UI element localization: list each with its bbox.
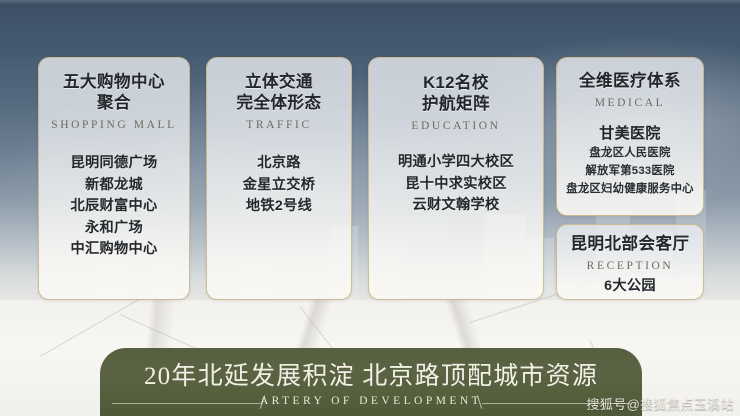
card-title-en: RECEPTION	[563, 260, 697, 272]
card-body: 立体交通 完全体形态 TRAFFIC 北京路 金星立交桥 地铁2号线	[207, 58, 351, 218]
card-title-cn: 全维医疗体系	[563, 71, 697, 92]
card-item-list: 北京路 金星立交桥 地铁2号线	[213, 153, 345, 218]
source-watermark: 搜狐号@搜狐焦点玉溪站	[586, 394, 734, 413]
bottom-banner: 20年北延发展积淀 北京路顶配城市资源 ARTERY OF DEVELOPMEN…	[100, 348, 642, 416]
card-traffic[interactable]: 立体交通 完全体形态 TRAFFIC 北京路 金星立交桥 地铁2号线	[206, 57, 352, 300]
spacer	[375, 132, 537, 152]
card-body: 五大购物中心 聚合 SHOPPING MALL 昆明同德广场 新都龙城 北辰财富…	[39, 58, 189, 261]
card-body: 昆明北部会客厅 RECEPTION 6大公园	[557, 225, 703, 298]
banner-subtitle-en: ARTERY OF DEVELOPMENT	[100, 394, 642, 407]
card-title-en: MEDICAL	[563, 97, 697, 109]
card-item-list: 6大公园	[563, 276, 697, 298]
card-item-list: 明通小学四大校区 昆十中求实校区 云财文翰学校	[375, 152, 537, 217]
card-shopping-mall[interactable]: 五大购物中心 聚合 SHOPPING MALL 昆明同德广场 新都龙城 北辰财富…	[38, 57, 190, 300]
card-item-list: 盘龙区人民医院 解放军第533医院 盘龙区妇幼健康服务中心	[563, 144, 697, 198]
slide-canvas: 五大购物中心 聚合 SHOPPING MALL 昆明同德广场 新都龙城 北辰财富…	[0, 0, 740, 416]
card-reception[interactable]: 昆明北部会客厅 RECEPTION 6大公园	[556, 224, 704, 300]
card-title-cn: 昆明北部会客厅	[563, 234, 697, 255]
banner-headline: 20年北延发展积淀 北京路顶配城市资源	[100, 356, 642, 392]
card-title-cn: 五大购物中心 聚合	[45, 72, 183, 114]
spacer	[45, 131, 183, 153]
banner-subtitle-group: ARTERY OF DEVELOPMENT	[100, 394, 642, 414]
card-title-cn: K12名校 护航矩阵	[375, 73, 537, 115]
spacer	[213, 131, 345, 153]
card-title-en: TRAFFIC	[213, 119, 345, 131]
card-education[interactable]: K12名校 护航矩阵 EDUCATION 明通小学四大校区 昆十中求实校区 云财…	[368, 57, 544, 300]
card-item-list: 昆明同德广场 新都龙城 北辰财富中心 永和广场 中汇购物中心	[45, 153, 183, 261]
top-edge-strip	[0, 0, 740, 5]
card-highlight-item: 甘美医院	[563, 123, 697, 144]
card-title-en: SHOPPING MALL	[45, 119, 183, 131]
card-title-cn: 立体交通 完全体形态	[213, 72, 345, 114]
card-body: K12名校 护航矩阵 EDUCATION 明通小学四大校区 昆十中求实校区 云财…	[369, 58, 543, 217]
card-medical[interactable]: 全维医疗体系 MEDICAL 甘美医院 盘龙区人民医院 解放军第533医院 盘龙…	[556, 57, 704, 216]
spacer	[563, 109, 697, 123]
card-body: 全维医疗体系 MEDICAL 甘美医院 盘龙区人民医院 解放军第533医院 盘龙…	[557, 58, 703, 198]
card-title-en: EDUCATION	[375, 120, 537, 132]
